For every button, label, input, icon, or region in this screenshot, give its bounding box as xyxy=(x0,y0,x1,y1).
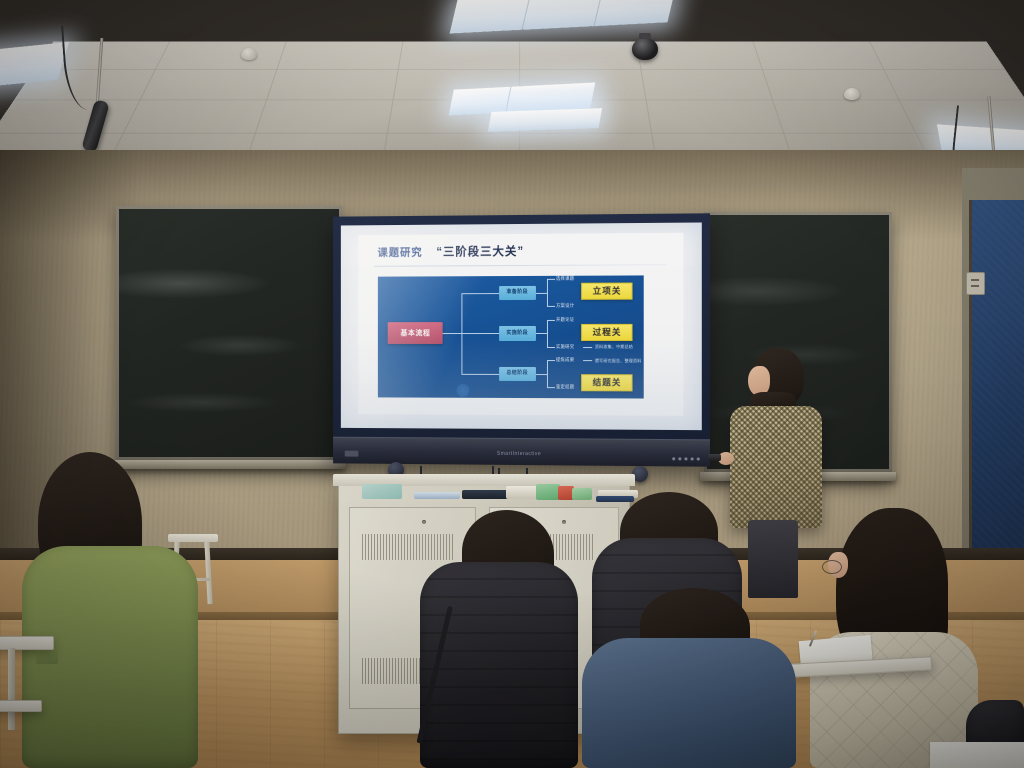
diagram-connector xyxy=(536,374,547,375)
attendee-blue-jacket xyxy=(582,588,796,768)
attendee-puffer-jacket xyxy=(420,562,578,768)
diagram-connector xyxy=(547,279,555,280)
diagram-connector xyxy=(547,387,555,388)
diagram-gate-node: 立项关 xyxy=(581,283,632,300)
diagram-connector xyxy=(547,306,555,307)
diagram-leaf: 方案设计 xyxy=(556,303,574,309)
smoke-detector-icon xyxy=(241,48,257,60)
slide-title-main: 课题研究 xyxy=(378,245,423,260)
diagram-gate-node: 结题关 xyxy=(581,374,632,391)
attendee-hooded-puffer xyxy=(420,510,584,768)
podium-item-cloth xyxy=(362,484,402,499)
diagram-connector xyxy=(547,360,548,387)
classroom-scene: 课题研究 “三阶段三大关” 基本流程 准备阶段 xyxy=(0,0,1024,768)
ceiling-light-panel xyxy=(488,108,602,132)
display-control-strip[interactable] xyxy=(672,457,700,460)
diagram-leaf: 鉴定结题 xyxy=(556,384,574,390)
desk-surface-right xyxy=(930,742,1024,768)
diagram-connector xyxy=(547,279,548,306)
diagram-connector xyxy=(547,360,555,361)
display-screen[interactable]: 课题研究 “三阶段三大关” 基本流程 准备阶段 xyxy=(341,222,702,430)
control-dot[interactable] xyxy=(684,457,687,460)
diagram-connector xyxy=(547,320,555,321)
control-dot[interactable] xyxy=(697,457,700,460)
control-dot[interactable] xyxy=(691,457,694,460)
diagram-leaf: 选择课题 xyxy=(556,276,574,282)
control-dot[interactable] xyxy=(672,457,675,460)
diagram-stage-node: 总结阶段 xyxy=(499,366,536,381)
wall-outlet-icon xyxy=(966,272,985,295)
ceiling-light-panel xyxy=(450,0,676,34)
diagram-connector xyxy=(443,333,461,334)
diagram-leaf-note: 资料收集、中期总结 xyxy=(595,344,633,350)
diagram-gate-node: 过程关 xyxy=(581,323,632,340)
display-bottom-bezel: SmartInteractive xyxy=(333,437,710,467)
coat-pocket-flap xyxy=(36,648,58,664)
smoke-detector-icon xyxy=(844,88,860,100)
front-desk-left-lower xyxy=(0,700,42,712)
control-dot[interactable] xyxy=(678,457,681,460)
diagram-root-node: 基本流程 xyxy=(388,322,443,344)
diagram-leaf-note: 撰写研究报告、整理资料 xyxy=(595,358,642,364)
diagram-connector xyxy=(547,347,555,348)
slide-title: 课题研究 “三阶段三大关” xyxy=(378,243,525,260)
diagram-connector xyxy=(547,320,548,347)
title-underline xyxy=(374,264,666,267)
blackboard-left-surface xyxy=(119,209,339,457)
attendee-blue-garment xyxy=(582,638,796,768)
attendee-green-coat xyxy=(14,452,214,768)
diagram-leaf: 实施研究 xyxy=(556,344,574,350)
diagram-stage-node: 实施阶段 xyxy=(499,326,536,341)
dome-camera-icon xyxy=(632,38,658,60)
slide-title-quoted: “三阶段三大关” xyxy=(436,243,524,260)
diagram-connector xyxy=(536,333,547,334)
diagram-dash xyxy=(583,347,592,348)
interactive-display[interactable]: 课题研究 “三阶段三大关” 基本流程 准备阶段 xyxy=(333,213,710,466)
blackboard-left-frame xyxy=(116,206,342,468)
slide-diagram: 基本流程 准备阶段 选择课题 方案设计 立项关 xyxy=(378,275,644,399)
podium-item-box-green xyxy=(536,484,560,500)
diagram-leaf: 开题论证 xyxy=(556,317,574,323)
diagram-stage-node: 准备阶段 xyxy=(499,285,536,300)
chalk-residue xyxy=(119,209,339,457)
desk-leg xyxy=(8,648,15,730)
diagram-connector xyxy=(462,333,499,334)
display-brand-label: SmartInteractive xyxy=(497,451,541,457)
presenter-trousers xyxy=(748,520,798,598)
presentation-slide: 课题研究 “三阶段三大关” 基本流程 准备阶段 xyxy=(358,233,683,416)
podium-item-folder xyxy=(414,492,460,499)
diagram-connector xyxy=(536,293,547,294)
glasses-icon xyxy=(822,560,842,574)
diagram-connector xyxy=(462,293,499,294)
diagram-connector xyxy=(462,374,499,375)
diagram-leaf: 提炼成果 xyxy=(556,357,574,363)
remote-clicker[interactable] xyxy=(708,454,721,461)
diagram-dash xyxy=(583,360,592,361)
diagram-watermark xyxy=(456,384,469,397)
usb-port-icon[interactable] xyxy=(345,451,359,457)
